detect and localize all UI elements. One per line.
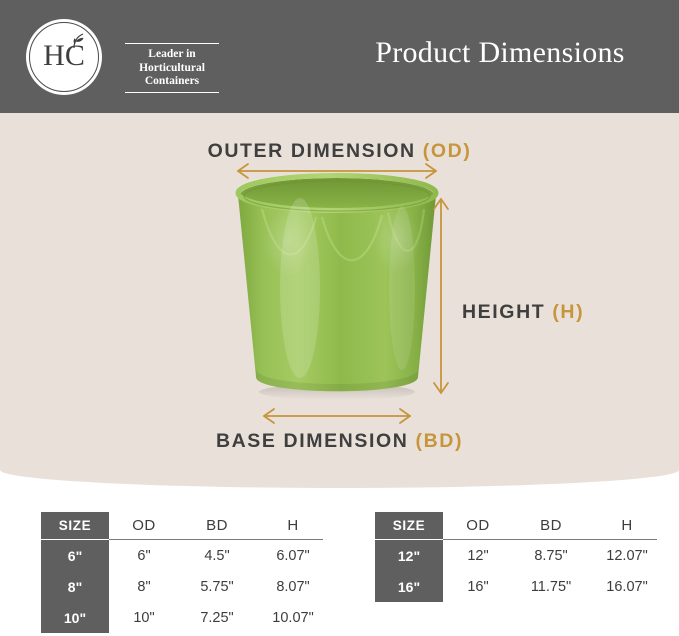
size-table-left: SIZE OD BD H 6" 6" 4.5" 6.07" 8" 8" 5.75…: [41, 512, 331, 633]
page-title: Product Dimensions: [340, 36, 660, 70]
tagline-line-2: Horticultural: [122, 62, 222, 76]
cell-size: 16": [375, 571, 443, 602]
cell-od: 12": [443, 540, 513, 571]
outer-dimension-text: OUTER DIMENSION: [208, 140, 416, 162]
height-label: HEIGHT (H): [462, 301, 584, 324]
cell-od: 8": [109, 571, 179, 602]
tagline-line-1: Leader in: [122, 48, 222, 62]
cell-h: 12.07": [589, 540, 665, 571]
cell-bd: 4.5": [179, 540, 255, 571]
base-dimension-label: BASE DIMENSION (BD): [0, 430, 679, 453]
cell-h: 16.07": [589, 571, 665, 602]
cell-bd: 11.75": [513, 571, 589, 602]
header-bar: HC Leader in Horticultural Containers Pr…: [0, 0, 679, 113]
table-row: 6" 6" 4.5" 6.07": [41, 540, 331, 571]
column-header-od: OD: [109, 512, 179, 539]
table-header-row: SIZE OD BD H: [375, 512, 665, 539]
tagline-rule-bottom: [125, 92, 219, 93]
table-row: 10" 10" 7.25" 10.07": [41, 602, 331, 633]
cell-od: 6": [109, 540, 179, 571]
column-header-bd: BD: [179, 512, 255, 539]
pot-specular-band-2: [389, 206, 415, 370]
column-header-size: SIZE: [41, 512, 109, 539]
cell-od: 10": [109, 602, 179, 633]
cell-bd: 5.75": [179, 571, 255, 602]
table-row: 8" 8" 5.75" 8.07": [41, 571, 331, 602]
outer-dimension-label: OUTER DIMENSION (OD): [0, 140, 679, 163]
column-header-od: OD: [443, 512, 513, 539]
table-header-row: SIZE OD BD H: [41, 512, 331, 539]
cell-h: 10.07": [255, 602, 331, 633]
height-text: HEIGHT: [462, 301, 545, 323]
cell-size: 6": [41, 540, 109, 571]
base-dimension-arrow: [264, 409, 410, 423]
logo-monogram: HC: [26, 40, 102, 72]
cell-size: 10": [41, 602, 109, 633]
tagline-line-3: Containers: [122, 75, 222, 89]
cell-bd: 7.25": [179, 602, 255, 633]
logo-circle-mark: HC: [26, 19, 102, 95]
size-table-right: SIZE OD BD H 12" 12" 8.75" 12.07" 16" 16…: [375, 512, 665, 602]
cell-h: 8.07": [255, 571, 331, 602]
column-header-size: SIZE: [375, 512, 443, 539]
cell-size: 8": [41, 571, 109, 602]
height-code: (H): [552, 301, 584, 323]
column-header-h: H: [589, 512, 665, 539]
base-dimension-text: BASE DIMENSION: [216, 430, 409, 452]
product-dimensions-infographic: HC Leader in Horticultural Containers Pr…: [0, 0, 679, 636]
cell-bd: 8.75": [513, 540, 589, 571]
column-header-bd: BD: [513, 512, 589, 539]
logo-tagline: Leader in Horticultural Containers: [122, 43, 222, 93]
table-row: 16" 16" 11.75" 16.07": [375, 571, 665, 602]
height-arrow: [434, 199, 448, 393]
table-row: 12" 12" 8.75" 12.07": [375, 540, 665, 571]
cell-od: 16": [443, 571, 513, 602]
column-header-h: H: [255, 512, 331, 539]
cell-size: 12": [375, 540, 443, 571]
base-dimension-code: (BD): [415, 430, 463, 452]
brand-logo: HC Leader in Horticultural Containers: [26, 19, 196, 95]
cell-h: 6.07": [255, 540, 331, 571]
pot-specular-band: [280, 198, 320, 378]
outer-dimension-code: (OD): [423, 140, 472, 162]
